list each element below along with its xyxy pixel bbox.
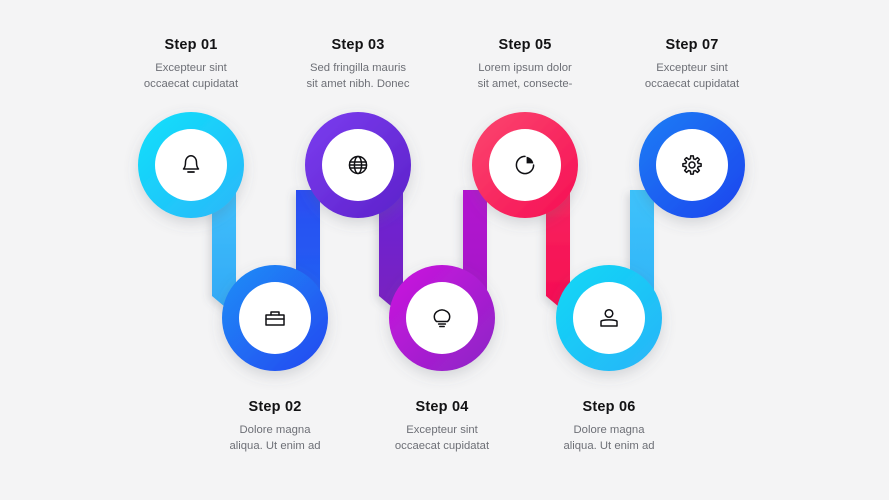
step-circle-step-03[interactable] bbox=[305, 112, 411, 218]
step-circle-step-01[interactable] bbox=[138, 112, 244, 218]
step-circle-step-05[interactable] bbox=[472, 112, 578, 218]
step-circle-step-06[interactable] bbox=[556, 265, 662, 371]
inner-disc-step-04 bbox=[406, 282, 478, 354]
inner-disc-step-07 bbox=[656, 129, 728, 201]
infographic-canvas: Step 01Excepteur sint occaecat cupidatat… bbox=[0, 0, 889, 500]
inner-disc-step-05 bbox=[489, 129, 561, 201]
infographic-svg bbox=[0, 0, 889, 500]
step-circle-step-04[interactable] bbox=[389, 265, 495, 371]
inner-disc-step-02 bbox=[239, 282, 311, 354]
step-circle-step-02[interactable] bbox=[222, 265, 328, 371]
inner-disc-step-01 bbox=[155, 129, 227, 201]
step-circle-step-07[interactable] bbox=[639, 112, 745, 218]
